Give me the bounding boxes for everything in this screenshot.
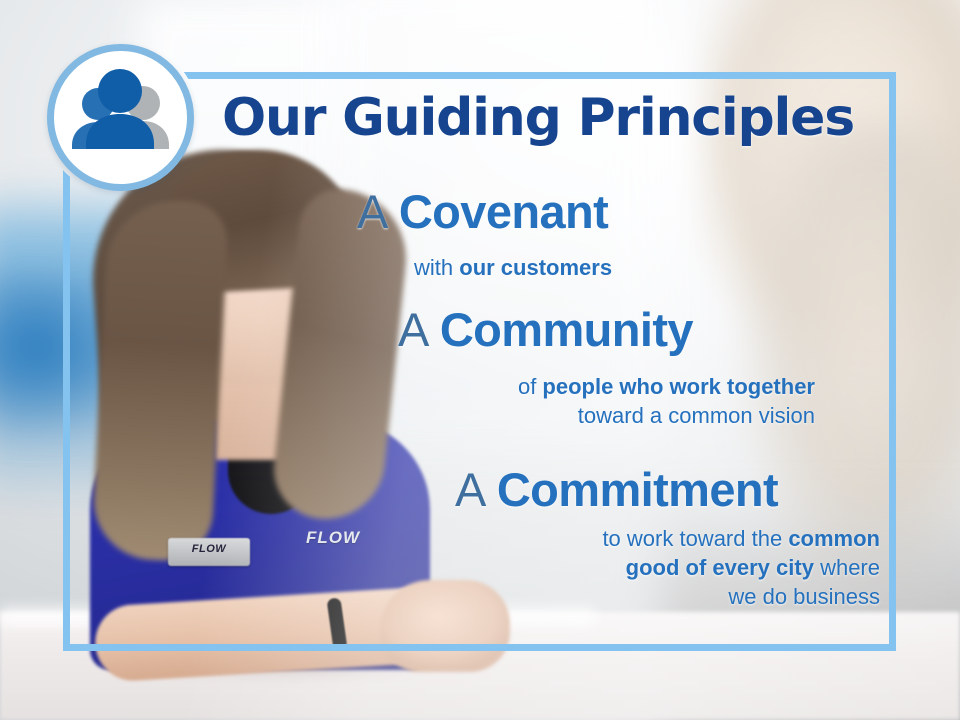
principle-detail-community-plain-1: of: [518, 374, 542, 399]
principle-word-community: Community: [440, 303, 693, 356]
principle-article-commitment: A: [455, 463, 484, 516]
banner-canvas: FLOW FLOW Our Guiding Principles A Coven…: [0, 0, 960, 720]
principle-detail-community: of people who work together toward a com…: [455, 372, 815, 430]
principle-detail-covenant-bold: our customers: [459, 255, 612, 280]
principle-detail-community-plain-2: toward a common vision: [578, 403, 815, 428]
principle-detail-commitment-plain-1: to work toward the: [602, 526, 788, 551]
principle-detail-commitment: to work toward the common good of every …: [520, 524, 880, 611]
principle-detail-covenant: with our customers: [414, 253, 612, 282]
principle-detail-commitment-bold-1: common: [788, 526, 880, 551]
people-group-icon: [47, 44, 194, 191]
principle-word-covenant: Covenant: [399, 185, 608, 238]
principle-article-covenant: A: [357, 185, 386, 238]
page-title: Our Guiding Principles: [222, 92, 862, 144]
principle-word-commitment: Commitment: [497, 463, 778, 516]
principle-heading-covenant: A Covenant: [357, 188, 608, 235]
principle-detail-community-bold-1: people who work together: [542, 374, 815, 399]
principle-detail-commitment-plain-3: where: [814, 555, 880, 580]
principle-article-community: A: [398, 303, 427, 356]
principle-heading-community: A Community: [398, 306, 693, 353]
principle-detail-covenant-plain: with: [414, 255, 459, 280]
principle-detail-commitment-plain-4: we do business: [728, 584, 880, 609]
principle-heading-commitment: A Commitment: [455, 466, 778, 513]
principle-detail-commitment-bold-2: good of every city: [626, 555, 814, 580]
